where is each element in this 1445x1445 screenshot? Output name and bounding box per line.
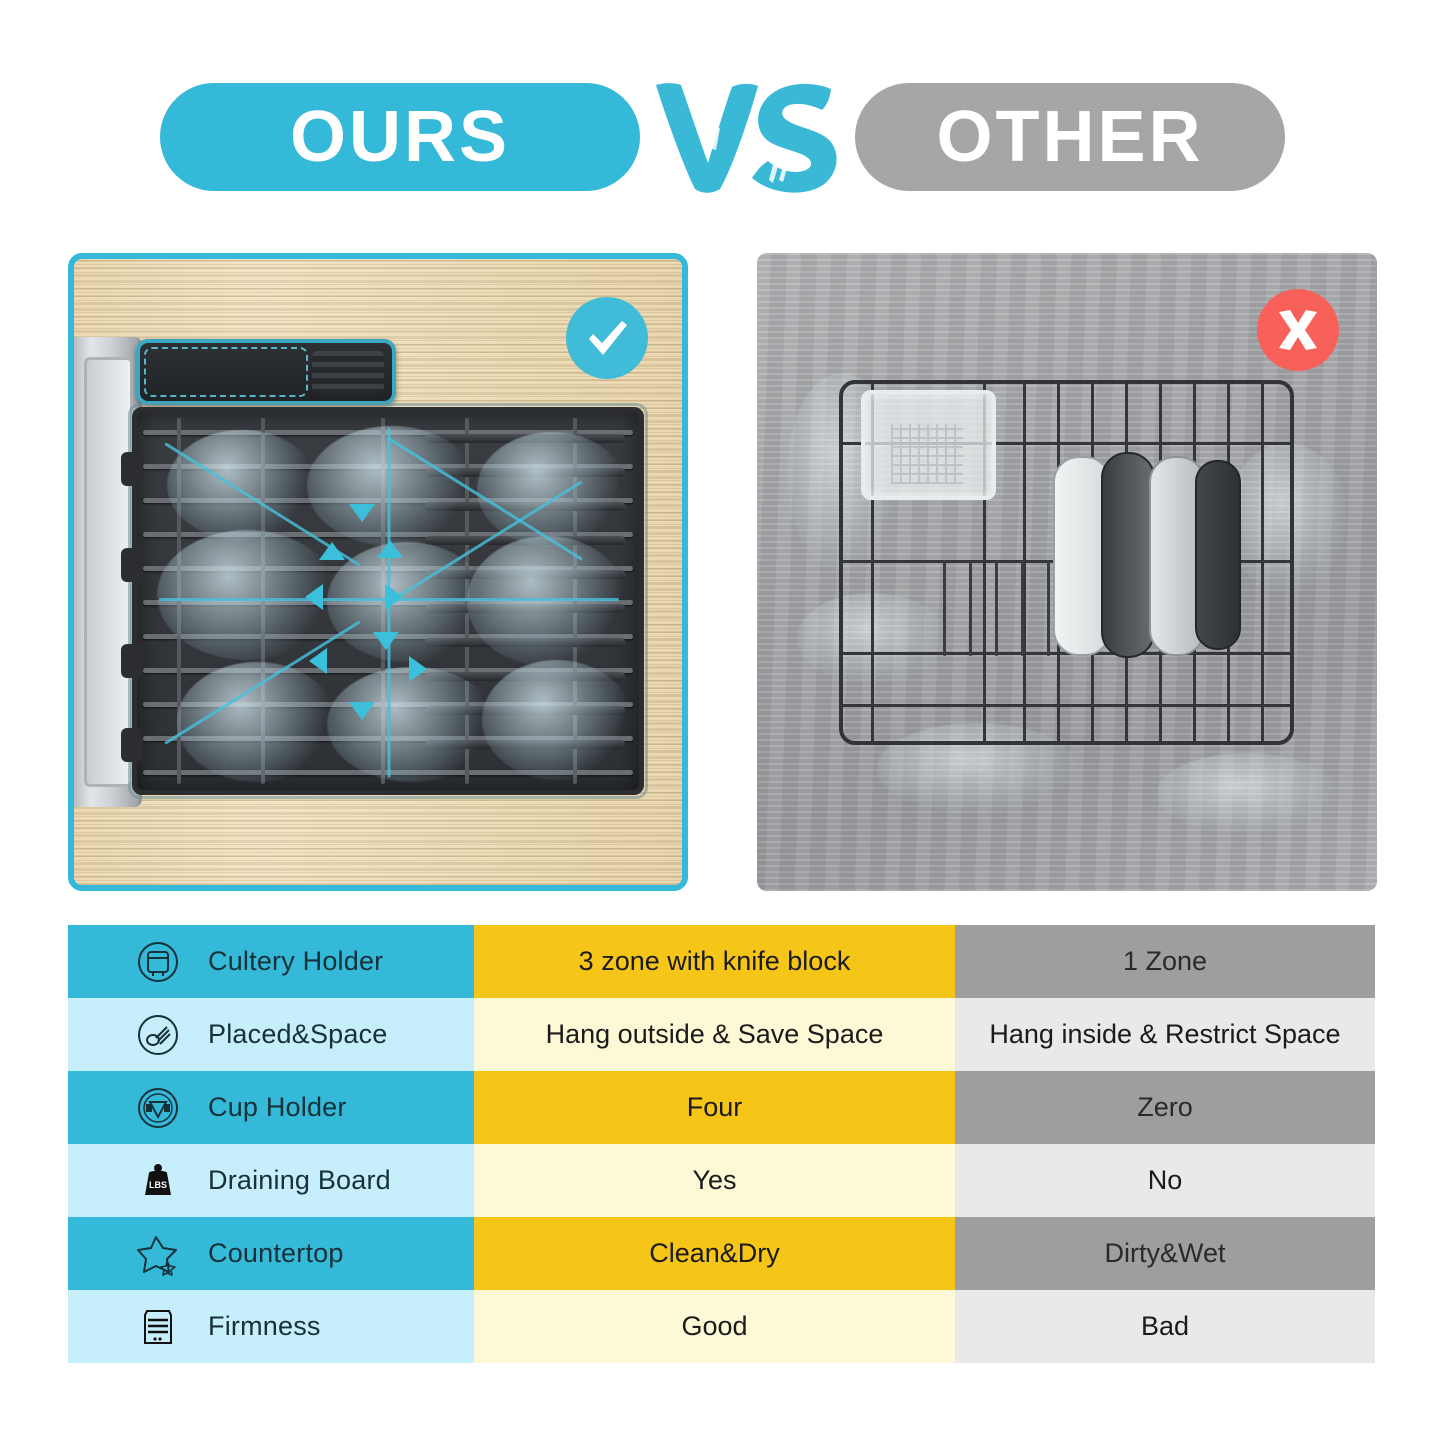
table-row: LBS Draining Board Yes No <box>68 1144 1375 1217</box>
other-product-photo <box>757 253 1377 891</box>
plate <box>1195 460 1241 650</box>
other-value: Bad <box>1141 1311 1189 1342</box>
vs-brush-text <box>640 77 855 197</box>
other-value-cell: 1 Zone <box>955 925 1375 998</box>
cutlery-zone-divider <box>144 347 308 397</box>
other-value-cell: No <box>955 1144 1375 1217</box>
photo-comparison <box>0 253 1445 891</box>
table-row: Firmness Good Bad <box>68 1290 1375 1363</box>
star-icon <box>134 1230 182 1278</box>
feature-cell: Cultery Holder <box>68 925 474 998</box>
other-value: Dirty&Wet <box>1104 1238 1225 1269</box>
other-value: Zero <box>1137 1092 1193 1123</box>
ours-label: OURS <box>290 101 510 173</box>
feature-cell: Placed&Space <box>68 998 474 1071</box>
ours-product-photo <box>68 253 688 891</box>
ours-value: Yes <box>692 1165 736 1196</box>
feature-label: Firmness <box>208 1311 321 1342</box>
basket-mesh <box>891 424 963 484</box>
table-row: Cultery Holder 3 zone with knife block 1… <box>68 925 1375 998</box>
feature-label: Draining Board <box>208 1165 391 1196</box>
other-value-cell: Hang inside & Restrict Space <box>955 998 1375 1071</box>
table-row: Countertop Clean&Dry Dirty&Wet <box>68 1217 1375 1290</box>
table-row: Placed&Space Hang outside & Save Space H… <box>68 998 1375 1071</box>
other-value: Hang inside & Restrict Space <box>989 1019 1340 1050</box>
svg-text:LBS: LBS <box>149 1180 167 1190</box>
feature-cell: LBS Draining Board <box>68 1144 474 1217</box>
check-badge <box>566 297 648 379</box>
ours-value-cell: Yes <box>474 1144 955 1217</box>
other-value-cell: Bad <box>955 1290 1375 1363</box>
other-value-cell: Zero <box>955 1071 1375 1144</box>
cutlery-basket-inside <box>861 390 996 500</box>
ours-value: Clean&Dry <box>649 1238 780 1269</box>
other-label: OTHER <box>937 101 1204 173</box>
dish-rack <box>132 407 644 795</box>
ours-value-cell: Four <box>474 1071 955 1144</box>
comparison-table: Cultery Holder 3 zone with knife block 1… <box>68 925 1375 1363</box>
comparison-infographic: OURS OTHER <box>0 0 1445 1445</box>
lbs-weight-icon: LBS <box>134 1157 182 1205</box>
feature-label: Placed&Space <box>208 1019 388 1050</box>
stacked-plates-icon <box>134 1011 182 1059</box>
ours-value: Hang outside & Save Space <box>546 1019 884 1050</box>
other-value-cell: Dirty&Wet <box>955 1217 1375 1290</box>
cutlery-holder-icon <box>134 938 182 986</box>
x-badge <box>1257 289 1339 371</box>
ours-value-cell: 3 zone with knife block <box>474 925 955 998</box>
check-icon <box>581 312 633 364</box>
ours-value-cell: Hang outside & Save Space <box>474 998 955 1071</box>
ours-value-cell: Clean&Dry <box>474 1217 955 1290</box>
ours-pill: OURS <box>160 83 640 191</box>
shelf-rack-icon <box>134 1303 182 1351</box>
table-row: Cup Holder Four Zero <box>68 1071 1375 1144</box>
header: OURS OTHER <box>0 78 1445 196</box>
ours-value: 3 zone with knife block <box>579 946 851 977</box>
feature-cell: Cup Holder <box>68 1071 474 1144</box>
cutlery-holder-outside <box>136 339 396 405</box>
cup-holder-icon <box>134 1084 182 1132</box>
other-value: No <box>1148 1165 1183 1196</box>
feature-cell: Firmness <box>68 1290 474 1363</box>
feature-cell: Countertop <box>68 1217 474 1290</box>
plate <box>1101 452 1155 658</box>
ours-value: Four <box>687 1092 743 1123</box>
feature-label: Countertop <box>208 1238 344 1269</box>
x-icon <box>1272 304 1324 356</box>
feature-label: Cultery Holder <box>208 946 383 977</box>
wire-dish-rack <box>839 380 1294 745</box>
ours-value-cell: Good <box>474 1290 955 1363</box>
other-pill: OTHER <box>855 83 1285 191</box>
feature-label: Cup Holder <box>208 1092 347 1123</box>
other-value: 1 Zone <box>1123 946 1207 977</box>
ours-value: Good <box>681 1311 747 1342</box>
